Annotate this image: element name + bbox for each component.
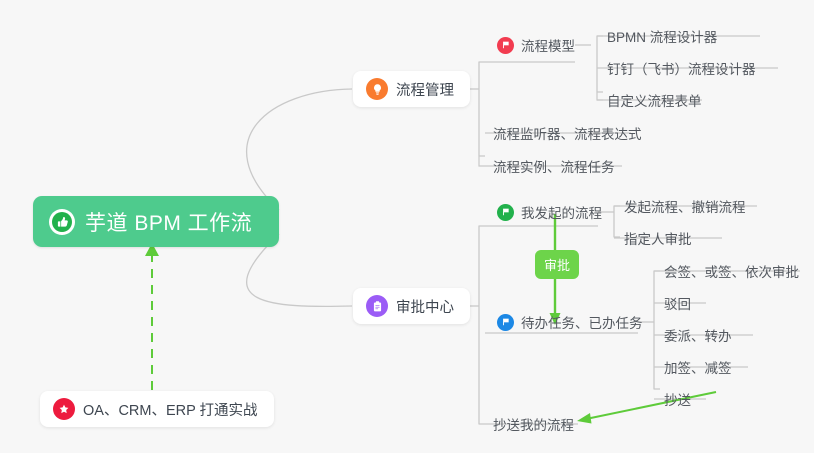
- node-custom-form[interactable]: 自定义流程表单: [603, 87, 708, 113]
- star-icon: [53, 398, 75, 420]
- node-label: 抄送: [664, 389, 691, 409]
- node-process-listener[interactable]: 流程监听器、流程表达式: [489, 120, 648, 146]
- root-label: 芋道 BPM 工作流: [85, 207, 252, 237]
- node-label: 指定人审批: [624, 228, 692, 248]
- branch-process-management[interactable]: 流程管理: [353, 71, 470, 107]
- node-label: 自定义流程表单: [607, 90, 702, 110]
- node-delegate-transfer[interactable]: 委派、转办: [660, 322, 738, 348]
- node-label: 待办任务、已办任务: [521, 312, 643, 332]
- node-bpmn-designer[interactable]: BPMN 流程设计器: [603, 23, 723, 49]
- node-label: 会签、或签、依次审批: [664, 261, 799, 281]
- connector-root-to-process-management: [247, 89, 352, 210]
- node-todo-done-task[interactable]: 待办任务、已办任务: [493, 309, 649, 335]
- node-label: 发起流程、撤销流程: [624, 196, 746, 216]
- lightbulb-icon: [366, 78, 388, 100]
- node-label: 抄送我的流程: [493, 414, 574, 434]
- thumbs-up-icon: [49, 209, 75, 235]
- clipboard-icon: [366, 295, 388, 317]
- flag-icon: [497, 314, 514, 331]
- node-cc[interactable]: 抄送: [660, 386, 697, 412]
- branch-approval-center[interactable]: 审批中心: [353, 288, 470, 324]
- node-add-remove-sign[interactable]: 加签、减签: [660, 354, 738, 380]
- node-reject[interactable]: 驳回: [660, 290, 697, 316]
- node-process-model[interactable]: 流程模型: [493, 32, 581, 58]
- node-start-cancel-process[interactable]: 发起流程、撤销流程: [620, 193, 752, 219]
- node-label: 我发起的流程: [521, 202, 602, 222]
- node-label: 流程监听器、流程表达式: [493, 123, 642, 143]
- node-assignee-approve[interactable]: 指定人审批: [620, 225, 698, 251]
- flag-icon: [497, 204, 514, 221]
- approval-chip: 审批: [535, 250, 579, 279]
- node-my-started-process[interactable]: 我发起的流程: [493, 199, 608, 225]
- branch-label: 流程管理: [396, 79, 454, 100]
- node-dingtalk-designer[interactable]: 钉钉（飞书）流程设计器: [603, 55, 762, 81]
- node-cc-to-me-process[interactable]: 抄送我的流程: [489, 411, 580, 437]
- connector-pm-trunk: [479, 62, 485, 156]
- node-label: OA、CRM、ERP 打通实战: [83, 399, 258, 420]
- node-label: 流程模型: [521, 35, 575, 55]
- connector-pm-trunk-2: [479, 156, 485, 166]
- node-countersign[interactable]: 会签、或签、依次审批: [660, 258, 805, 284]
- connector-ac-trunk: [479, 226, 485, 424]
- node-label: 委派、转办: [664, 325, 732, 345]
- node-label: 加签、减签: [664, 357, 732, 377]
- root-node[interactable]: 芋道 BPM 工作流: [33, 196, 279, 247]
- mindmap-canvas: 芋道 BPM 工作流 流程管理 流程模型 BPMN 流程设计器 钉钉（飞书）流程…: [0, 0, 814, 453]
- flag-icon: [497, 37, 514, 54]
- branch-label: 审批中心: [396, 296, 454, 317]
- node-label: BPMN 流程设计器: [607, 26, 717, 46]
- node-label: 驳回: [664, 293, 691, 313]
- node-process-instance[interactable]: 流程实例、流程任务: [489, 153, 621, 179]
- node-integration-practice[interactable]: OA、CRM、ERP 打通实战: [40, 391, 274, 427]
- node-label: 流程实例、流程任务: [493, 156, 615, 176]
- node-label: 钉钉（飞书）流程设计器: [607, 58, 756, 78]
